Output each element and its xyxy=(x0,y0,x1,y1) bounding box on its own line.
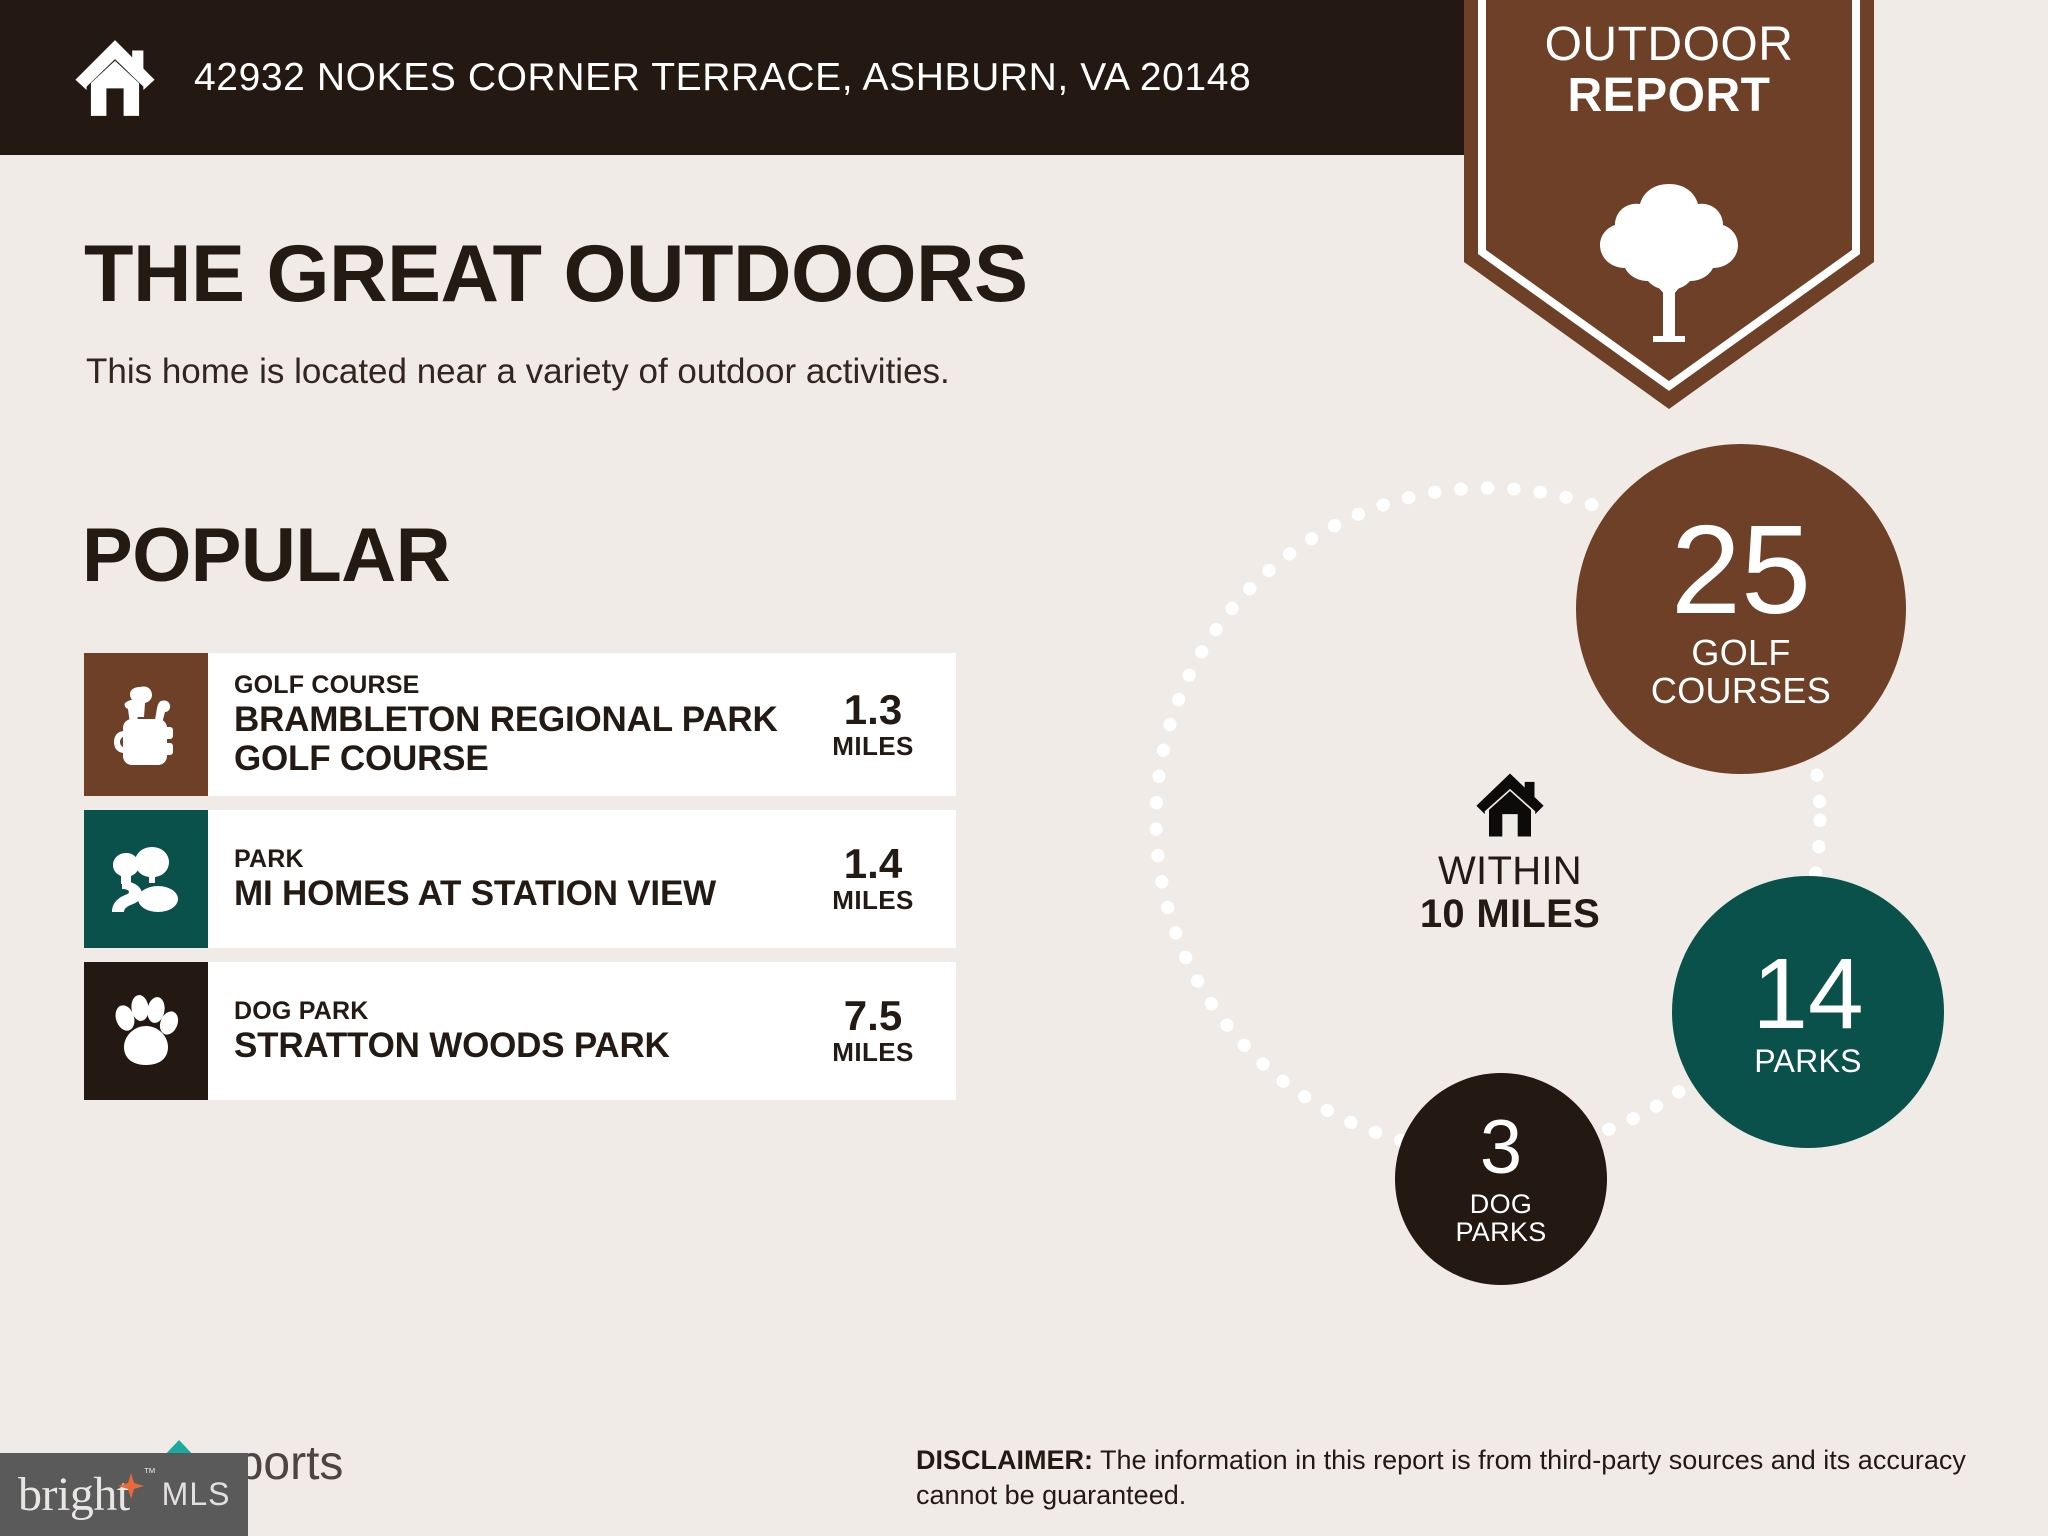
within-line-1: WITHIN xyxy=(1390,850,1630,892)
within-line-2: 10 MILES xyxy=(1390,892,1630,936)
list-item-body: GOLF COURSE BRAMBLETON REGIONAL PARK GOL… xyxy=(208,653,804,796)
home-icon xyxy=(1475,772,1545,838)
list-item-category: DOG PARK xyxy=(234,997,804,1027)
list-item-icon-tile xyxy=(84,653,208,796)
section-heading-popular: POPULAR xyxy=(82,512,450,599)
list-item-name-line1: MI HOMES AT STATION VIEW xyxy=(234,874,804,913)
watermark-brand: bright ™ xyxy=(18,1467,130,1522)
disclaimer-label: DISCLAIMER: xyxy=(916,1445,1093,1475)
watermark-brand-text: bright xyxy=(18,1468,130,1521)
popular-list: GOLF COURSE BRAMBLETON REGIONAL PARK GOL… xyxy=(84,653,956,1114)
stat-bubble-golf-courses: 25 GOLF COURSES xyxy=(1576,444,1906,774)
outdoor-report-page: eports 42932 NOKES CORNER TERRACE, ASHBU… xyxy=(0,0,2048,1536)
stat-count: 25 xyxy=(1671,508,1811,631)
watermark-suffix: MLS xyxy=(162,1476,231,1513)
distance-unit: MILES xyxy=(832,886,913,915)
distance-value: 1.3 xyxy=(844,689,902,732)
distance-value: 7.5 xyxy=(844,995,902,1038)
list-item[interactable]: DOG PARK STRATTON WOODS PARK 7.5 MILES xyxy=(84,962,956,1100)
park-tree-icon xyxy=(108,841,184,917)
bright-mls-watermark: bright ™ MLS xyxy=(0,1453,248,1536)
home-icon xyxy=(72,35,158,121)
list-item[interactable]: GOLF COURSE BRAMBLETON REGIONAL PARK GOL… xyxy=(84,653,956,796)
stat-label-line2: COURSES xyxy=(1651,672,1831,710)
stat-label-line1: PARKS xyxy=(1754,1045,1862,1079)
list-item-body: PARK MI HOMES AT STATION VIEW xyxy=(208,810,804,948)
page-title: THE GREAT OUTDOORS xyxy=(84,228,1028,321)
list-item-icon-tile xyxy=(84,962,208,1100)
list-item-name-line1: BRAMBLETON REGIONAL PARK xyxy=(234,700,804,739)
trademark-symbol: ™ xyxy=(143,1465,156,1480)
list-item-distance: 7.5 MILES xyxy=(804,962,956,1100)
badge-shield-shape xyxy=(1464,0,1874,409)
within-radius-diagram: 25 GOLF COURSES 14 PARKS 3 DOG PARKS WIT… xyxy=(1100,420,1980,1320)
distance-unit: MILES xyxy=(832,732,913,761)
property-address: 42932 NOKES CORNER TERRACE, ASHBURN, VA … xyxy=(194,56,1251,100)
list-item-name-line2: GOLF COURSE xyxy=(234,739,804,778)
stat-count: 3 xyxy=(1480,1111,1522,1185)
stat-label-line1: DOG xyxy=(1470,1190,1532,1219)
list-item-distance: 1.4 MILES xyxy=(804,810,956,948)
list-item-body: DOG PARK STRATTON WOODS PARK xyxy=(208,962,804,1100)
stat-label-line1: GOLF xyxy=(1691,634,1790,672)
distance-unit: MILES xyxy=(832,1038,913,1067)
star-icon xyxy=(118,1473,144,1499)
list-item-distance: 1.3 MILES xyxy=(804,653,956,796)
list-item-name-line1: STRATTON WOODS PARK xyxy=(234,1026,804,1065)
stat-bubble-parks: 14 PARKS xyxy=(1672,876,1944,1148)
outdoor-report-badge: OUTDOOR REPORT xyxy=(1464,0,1874,409)
stat-count: 14 xyxy=(1752,945,1863,1043)
page-subtitle: This home is located near a variety of o… xyxy=(86,352,950,392)
paw-print-icon xyxy=(110,993,182,1069)
list-item-category: GOLF COURSE xyxy=(234,671,804,701)
list-item-icon-tile xyxy=(84,810,208,948)
list-item[interactable]: PARK MI HOMES AT STATION VIEW 1.4 MILES xyxy=(84,810,956,948)
distance-value: 1.4 xyxy=(844,843,902,886)
disclaimer: DISCLAIMER: The information in this repo… xyxy=(916,1443,2006,1513)
list-item-category: PARK xyxy=(234,845,804,875)
diagram-center-label: WITHIN 10 MILES xyxy=(1390,772,1630,936)
golf-bag-icon xyxy=(110,683,182,767)
stat-label-line2: PARKS xyxy=(1455,1218,1546,1247)
stat-bubble-dog-parks: 3 DOG PARKS xyxy=(1395,1073,1607,1285)
